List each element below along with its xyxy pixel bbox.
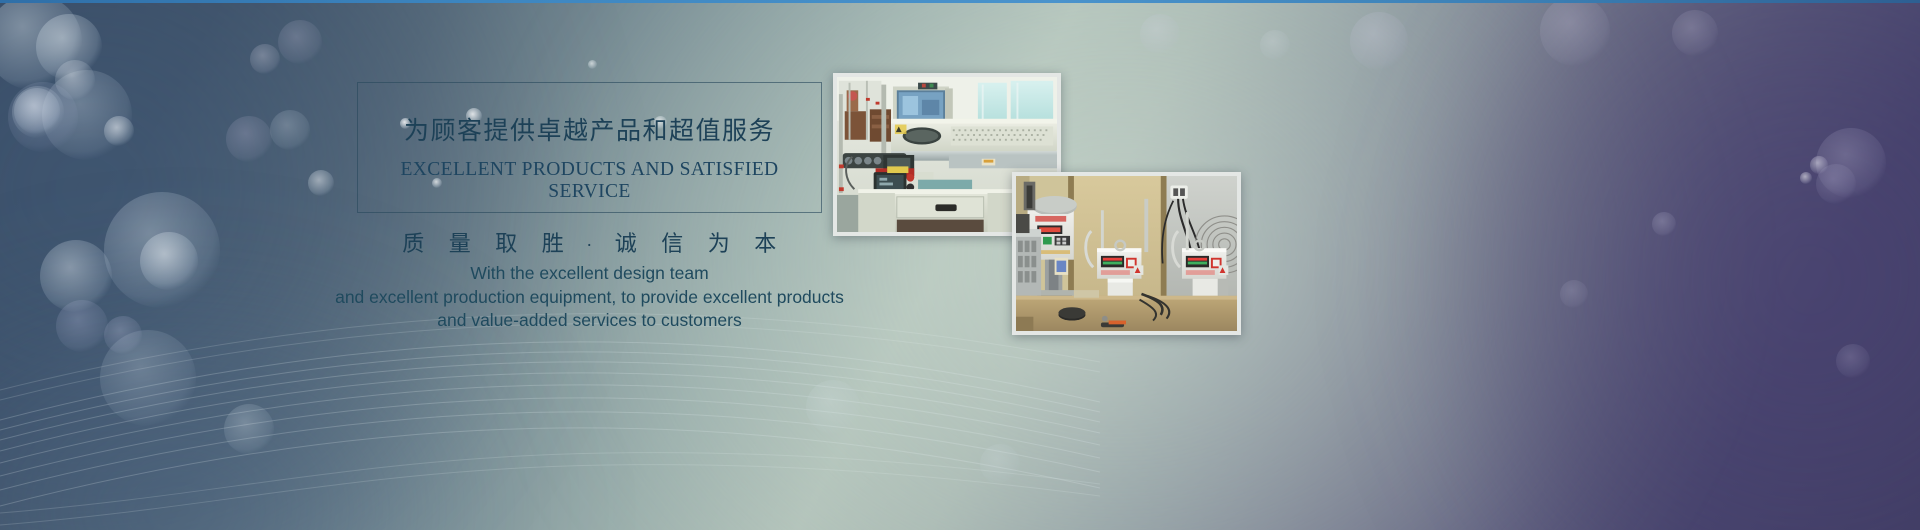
bokeh-circle	[1540, 0, 1610, 66]
slogan-char: 为	[696, 226, 743, 258]
paragraph-line: With the excellent design team	[287, 262, 892, 286]
photo-crimping-machines	[1012, 172, 1241, 335]
slogan-char: 量	[437, 226, 484, 258]
title-frame: 为顾客提供卓越产品和超值服务 EXCELLENT PRODUCTS AND SA…	[357, 82, 822, 213]
bokeh-circle	[1816, 128, 1886, 198]
promo-banner: 为顾客提供卓越产品和超值服务 EXCELLENT PRODUCTS AND SA…	[0, 0, 1920, 530]
bokeh-circle	[1260, 30, 1290, 60]
bokeh-circle	[1836, 344, 1870, 378]
slogan-char: 胜	[530, 226, 577, 258]
slogan-line: 质量取胜·诚信为本	[357, 226, 822, 258]
slogan-separator-dot: ·	[576, 235, 603, 256]
paragraph-line: and excellent production equipment, to p…	[287, 286, 892, 310]
slogan-char: 质	[390, 226, 437, 258]
bokeh-circle	[1560, 280, 1588, 308]
description-paragraph: With the excellent design team and excel…	[287, 262, 892, 333]
slogan-char: 取	[483, 226, 530, 258]
slogan-char: 诚	[603, 226, 650, 258]
background-glow-right	[1430, 0, 1920, 530]
bokeh-circle	[1672, 10, 1718, 56]
bokeh-circle	[1350, 12, 1408, 70]
paragraph-line: and value-added services to customers	[287, 309, 892, 333]
bokeh-circle	[1816, 164, 1856, 204]
photo-crimping-machines-image	[1016, 176, 1237, 331]
slogan-char: 本	[742, 226, 789, 258]
bokeh-circle	[1652, 212, 1676, 236]
slogan-char: 信	[649, 226, 696, 258]
sub-title: EXCELLENT PRODUCTS AND SATISFIED SERVICE	[358, 159, 821, 203]
bokeh-circle	[1800, 172, 1812, 184]
main-title: 为顾客提供卓越产品和超值服务	[358, 111, 821, 147]
bokeh-circle	[1810, 156, 1828, 174]
bokeh-circle	[1140, 14, 1180, 54]
top-accent-rule	[0, 0, 1920, 3]
